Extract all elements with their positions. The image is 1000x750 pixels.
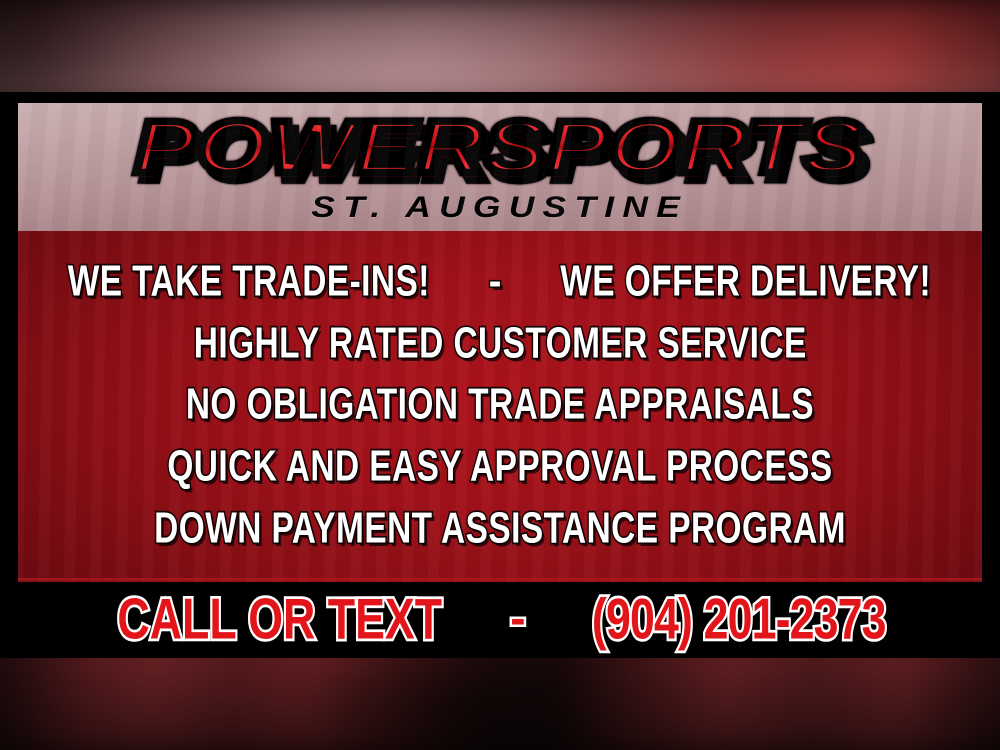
- benefit-text: WE OFFER DELIVERY!: [561, 260, 932, 303]
- cta-separator: -: [468, 595, 567, 641]
- benefit-text: QUICK AND EASY APPROVAL PROCESS: [167, 446, 832, 489]
- brand-logo-wordmark: POWERSPORTS: [135, 109, 866, 183]
- logo-plate: POWERSPORTS ST. AUGUSTINE: [18, 103, 982, 231]
- call-or-text-label: CALL OR TEXT: [117, 591, 442, 648]
- billboard-card: POWERSPORTS ST. AUGUSTINE WE TAKE TRADE-…: [0, 92, 1000, 658]
- benefits-panel: WE TAKE TRADE-INS! - WE OFFER DELIVERY! …: [18, 231, 982, 582]
- benefit-row: WE TAKE TRADE-INS! - WE OFFER DELIVERY!: [43, 263, 957, 301]
- phone-number-link[interactable]: (904) 201-2373: [592, 591, 886, 648]
- benefit-text: WE TAKE TRADE-INS!: [68, 260, 430, 303]
- banner-stage: POWERSPORTS ST. AUGUSTINE WE TAKE TRADE-…: [0, 0, 1000, 750]
- brand-location-label: ST. AUGUSTINE: [312, 191, 689, 225]
- benefit-row: NO OBLIGATION TRADE APPRAISALS: [143, 386, 857, 424]
- benefit-text: DOWN PAYMENT ASSISTANCE PROGRAM: [154, 507, 846, 550]
- benefit-row: QUICK AND EASY APPROVAL PROCESS: [122, 448, 878, 486]
- benefit-text: HIGHLY RATED CUSTOMER SERVICE: [194, 322, 807, 365]
- benefit-separator: -: [455, 261, 536, 303]
- panel-edge-glow: [18, 578, 982, 583]
- call-to-action-bar: CALL OR TEXT - (904) 201-2373: [0, 582, 1000, 658]
- benefit-text: NO OBLIGATION TRADE APPRAISALS: [186, 384, 814, 427]
- benefit-row: HIGHLY RATED CUSTOMER SERVICE: [152, 325, 849, 363]
- benefit-row: DOWN PAYMENT ASSISTANCE PROGRAM: [107, 510, 893, 548]
